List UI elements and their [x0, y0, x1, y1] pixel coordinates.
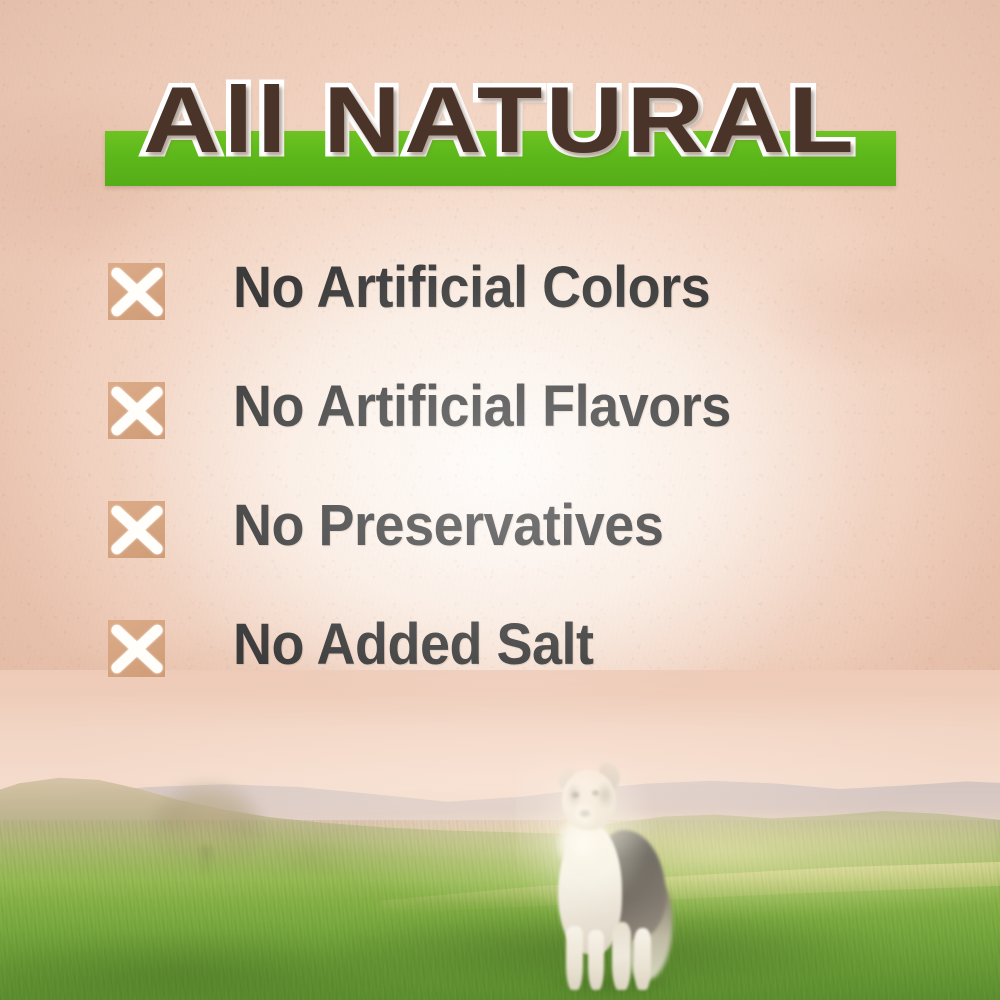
headline-block: All NATURAL [0, 68, 1000, 198]
dog-back-leg-left [612, 922, 631, 990]
list-item: No Artificial Colors [0, 255, 1000, 374]
dog-nose [580, 810, 590, 817]
page-title: All NATURAL [0, 68, 1000, 172]
list-item-label: No Artificial Flavors [233, 374, 731, 440]
list-item-label: No Preservatives [233, 493, 663, 559]
dog-back-leg-right [634, 928, 651, 990]
x-mark-icon [108, 382, 165, 439]
dog-front-leg-left [566, 926, 583, 990]
list-item-label: No Artificial Colors [233, 255, 710, 321]
dog-front-leg-right [588, 930, 604, 990]
field-shadow-left [0, 930, 460, 1000]
x-mark-icon [108, 263, 165, 320]
list-item: No Added Salt [0, 612, 1000, 731]
dog-eye-left [572, 792, 579, 798]
x-mark-icon [108, 501, 165, 558]
dog-eye-right [592, 790, 599, 796]
list-item: No Artificial Flavors [0, 374, 1000, 493]
poster-canvas: All NATURAL No Artificial Colors No Arti… [0, 0, 1000, 1000]
list-item-label: No Added Salt [233, 612, 594, 678]
claims-checklist: No Artificial Colors No Artificial Flavo… [0, 255, 1000, 731]
x-mark-icon [108, 620, 165, 677]
border-collie-dog [536, 758, 676, 994]
list-item: No Preservatives [0, 493, 1000, 612]
